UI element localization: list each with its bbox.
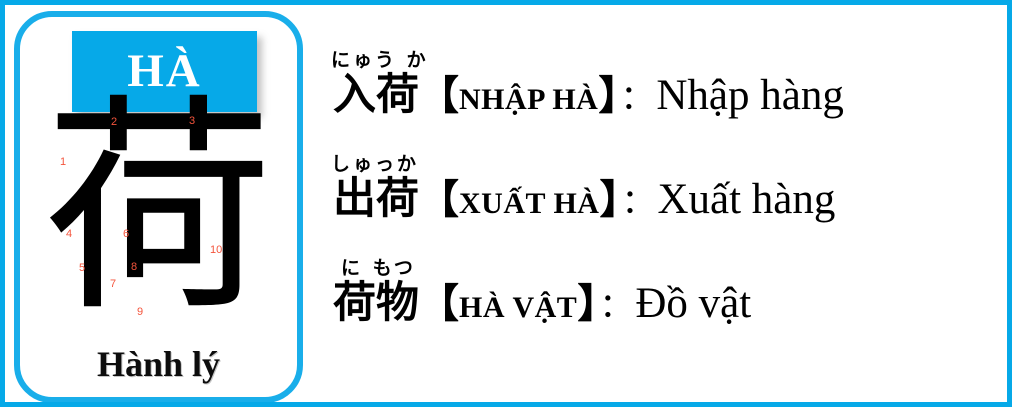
vocabulary-line-3: 荷物【HÀ VẬT】：Đồ vật [333, 279, 751, 328]
translation-1: Nhập hàng [656, 72, 843, 119]
stroke-number-4: 4 [66, 229, 72, 240]
vocabulary-line-1: 入荷【NHẬP HÀ】：Nhập hàng [333, 71, 844, 120]
stroke-number-10: 10 [210, 245, 222, 256]
kanji-flashcard: HÀ 荷 1 2 3 4 5 6 7 8 9 10 Hành lý にゅう か … [0, 0, 1012, 407]
stroke-number-9: 9 [137, 307, 143, 318]
stroke-number-6: 6 [123, 229, 129, 240]
translation-3: Đồ vật [635, 280, 751, 327]
bracket-open-2: 【 [419, 177, 459, 223]
vocabulary-line-2: 出荷【XUẤT HÀ】：Xuất hàng [333, 175, 835, 224]
vocabulary-list: にゅう か 入荷【NHẬP HÀ】：Nhập hàng しゅっか 出荷【XUẤT… [317, 5, 999, 402]
furigana-2: しゅっか [331, 155, 419, 174]
sino-vietnamese-1: NHẬP HÀ [459, 83, 598, 116]
kanji-stroke-diagram: 荷 1 2 3 4 5 6 7 8 9 10 [20, 109, 297, 349]
stroke-number-1: 1 [60, 157, 66, 168]
bracket-open-3: 【 [419, 281, 459, 327]
vocabulary-entry-1: にゅう か 入荷【NHẬP HÀ】：Nhập hàng [317, 51, 999, 155]
separator-3: ： [597, 286, 635, 326]
stroke-number-5: 5 [79, 263, 85, 274]
stroke-number-3: 3 [189, 116, 195, 127]
separator-1: ： [618, 78, 656, 118]
separator-2: ： [619, 182, 657, 222]
meaning-label: Hành lý [20, 343, 297, 385]
bracket-open-1: 【 [419, 73, 459, 119]
bracket-close-1: 】 [598, 73, 618, 119]
translation-2: Xuất hàng [657, 176, 835, 223]
sino-vietnamese-2: XUẤT HÀ [459, 187, 599, 220]
bracket-close-2: 】 [599, 177, 619, 223]
furigana-1: にゅう か [331, 51, 429, 70]
stroke-number-8: 8 [131, 262, 137, 273]
vocabulary-entry-2: しゅっか 出荷【XUẤT HÀ】：Xuất hàng [317, 155, 999, 259]
stroke-number-7: 7 [110, 279, 116, 290]
kanji-character: 荷 [20, 95, 297, 325]
vocabulary-entry-3: に もつ 荷物【HÀ VẬT】：Đồ vật [317, 259, 999, 363]
furigana-3: に もつ [341, 259, 416, 278]
vocab-word-1: 入荷 [333, 70, 419, 120]
sino-vietnamese-3: HÀ VẬT [459, 291, 577, 324]
bracket-close-3: 】 [577, 281, 597, 327]
vocab-word-2: 出荷 [333, 174, 419, 224]
kanji-panel: HÀ 荷 1 2 3 4 5 6 7 8 9 10 Hành lý [14, 11, 303, 403]
stroke-number-2: 2 [111, 117, 117, 128]
vocab-word-3: 荷物 [333, 278, 419, 328]
